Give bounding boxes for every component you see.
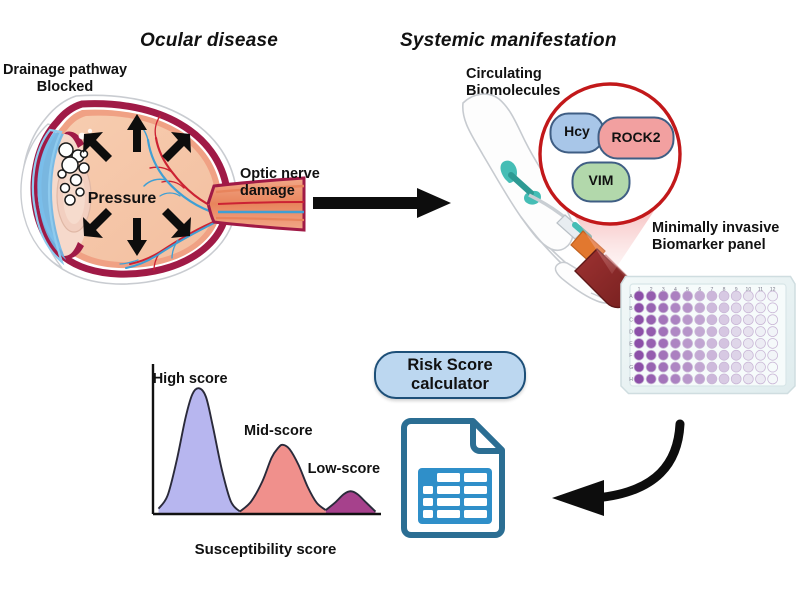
microplate-well <box>756 362 766 372</box>
chart-annotation: High score <box>135 371 245 388</box>
microplate-well <box>719 362 729 372</box>
drainage-pathway-label-line1: Drainage pathway <box>0 62 130 79</box>
microplate-well <box>707 338 717 348</box>
microplate-well <box>671 303 681 313</box>
arrow-right-icon <box>313 186 453 220</box>
microplate-well <box>671 327 681 337</box>
ocular-panel-title: Ocular disease <box>140 30 278 52</box>
risk-score-calculator-button[interactable]: Risk Score calculator <box>374 351 526 399</box>
microplate-96-well-icon: 123456789101112ABCDEFGH <box>618 272 798 398</box>
microplate-well <box>707 291 717 301</box>
pressure-label: Pressure <box>62 190 182 209</box>
microplate-well <box>683 362 693 372</box>
microplate-well <box>707 374 717 384</box>
microplate-well <box>731 315 741 325</box>
microplate-well <box>634 338 644 348</box>
microplate-well <box>695 350 705 360</box>
microplate-well <box>658 291 668 301</box>
microplate-well <box>658 374 668 384</box>
microplate-well <box>646 327 656 337</box>
microplate-well <box>719 338 729 348</box>
microplate-well <box>634 374 644 384</box>
svg-text:B: B <box>629 306 633 312</box>
biomolecule-vim: VIM <box>570 159 632 204</box>
microplate-well <box>731 338 741 348</box>
microplate-well <box>695 338 705 348</box>
microplate-well <box>658 315 668 325</box>
spreadsheet-document-icon[interactable] <box>401 416 509 538</box>
microplate-well <box>646 362 656 372</box>
microplate-well <box>743 291 753 301</box>
microplate-well <box>634 303 644 313</box>
microplate-well <box>695 303 705 313</box>
microplate-well <box>646 338 656 348</box>
microplate-well <box>671 338 681 348</box>
microplate-well <box>695 291 705 301</box>
microplate-well <box>768 374 778 384</box>
biomarker-panel-line2: Biomarker panel <box>652 237 779 254</box>
microplate-well <box>719 303 729 313</box>
microplate-well <box>683 350 693 360</box>
microplate-well <box>634 315 644 325</box>
microplate-well <box>707 362 717 372</box>
svg-text:G: G <box>629 365 633 371</box>
microplate-well <box>731 350 741 360</box>
microplate-well <box>756 327 766 337</box>
microplate-well <box>634 327 644 337</box>
microplate-well <box>683 338 693 348</box>
microplate-well <box>768 327 778 337</box>
biomolecule-rock2: ROCK2 <box>596 114 676 162</box>
microplate-well <box>768 338 778 348</box>
microplate-well <box>719 315 729 325</box>
optic-nerve-damage-line2: damage <box>240 183 320 200</box>
microplate-well <box>731 303 741 313</box>
svg-text:E: E <box>629 341 633 347</box>
microplate-well <box>731 327 741 337</box>
microplate-well <box>731 291 741 301</box>
microplate-well <box>731 362 741 372</box>
biomolecule-vim-label: VIM <box>570 172 632 188</box>
microplate-well <box>683 291 693 301</box>
microplate-well <box>768 303 778 313</box>
microplate-well <box>658 350 668 360</box>
microplate-well <box>756 315 766 325</box>
microplate-well <box>756 338 766 348</box>
microplate-well <box>768 291 778 301</box>
microplate-well <box>695 362 705 372</box>
microplate-well <box>671 350 681 360</box>
microplate-well <box>707 327 717 337</box>
arrow-curved-left-icon <box>538 418 690 534</box>
chart-series-area <box>326 491 376 513</box>
graphical-abstract: Ocular disease Drainage pathway Blocked <box>0 0 800 600</box>
microplate-well <box>646 291 656 301</box>
microplate-well <box>646 303 656 313</box>
optic-nerve-damage-line1: Optic nerve <box>240 166 320 183</box>
microplate-well <box>707 303 717 313</box>
microplate-well <box>671 362 681 372</box>
svg-text:F: F <box>629 353 632 359</box>
biomarker-panel-line1: Minimally invasive <box>652 220 779 237</box>
microplate-well <box>707 315 717 325</box>
microplate-well <box>683 303 693 313</box>
microplate-well <box>695 374 705 384</box>
microplate-well <box>743 315 753 325</box>
risk-score-calculator-line2: calculator <box>407 375 492 394</box>
microplate-well <box>768 350 778 360</box>
microplate-well <box>646 315 656 325</box>
microplate-well <box>743 338 753 348</box>
microplate-well <box>658 327 668 337</box>
risk-score-calculator-line1: Risk Score <box>407 356 492 375</box>
microplate-well <box>719 291 729 301</box>
microplate-well <box>731 374 741 384</box>
microplate-well <box>646 374 656 384</box>
microplate-well <box>768 362 778 372</box>
systemic-panel-title: Systemic manifestation <box>400 30 617 52</box>
microplate-well <box>671 291 681 301</box>
chart-annotation: Mid-score <box>223 423 333 440</box>
microplate-well <box>634 362 644 372</box>
svg-text:D: D <box>629 330 633 336</box>
chart-x-axis-label: Susceptibility score <box>143 541 388 559</box>
microplate-well <box>646 350 656 360</box>
svg-text:C: C <box>629 318 633 324</box>
microplate-well <box>719 374 729 384</box>
microplate-well <box>756 350 766 360</box>
microplate-well <box>743 374 753 384</box>
microplate-well <box>658 303 668 313</box>
microplate-well <box>707 350 717 360</box>
chart-annotation: Low-score <box>289 461 399 478</box>
svg-text:H: H <box>629 377 633 383</box>
microplate-well <box>671 374 681 384</box>
microplate-well <box>658 338 668 348</box>
svg-text:A: A <box>629 294 633 300</box>
biomarker-panel-label: Minimally invasive Biomarker panel <box>652 220 779 254</box>
microplate-well <box>695 327 705 337</box>
microplate-well <box>756 291 766 301</box>
optic-nerve-damage-label: Optic nerve damage <box>240 166 320 200</box>
microplate-well <box>756 374 766 384</box>
microplate-well <box>634 291 644 301</box>
microplate-well <box>683 374 693 384</box>
microplate-well <box>743 327 753 337</box>
microplate-well <box>634 350 644 360</box>
microplate-well <box>719 350 729 360</box>
microplate-well <box>743 350 753 360</box>
microplate-well <box>695 315 705 325</box>
microplate-well <box>658 362 668 372</box>
microplate-well <box>719 327 729 337</box>
chart-series-area <box>240 445 326 513</box>
microplate-well <box>671 315 681 325</box>
microplate-well <box>743 362 753 372</box>
microplate-well <box>683 315 693 325</box>
biomolecule-rock2-label: ROCK2 <box>596 129 676 145</box>
microplate-well <box>768 315 778 325</box>
microplate-well <box>756 303 766 313</box>
microplate-well <box>743 303 753 313</box>
microplate-well <box>683 327 693 337</box>
